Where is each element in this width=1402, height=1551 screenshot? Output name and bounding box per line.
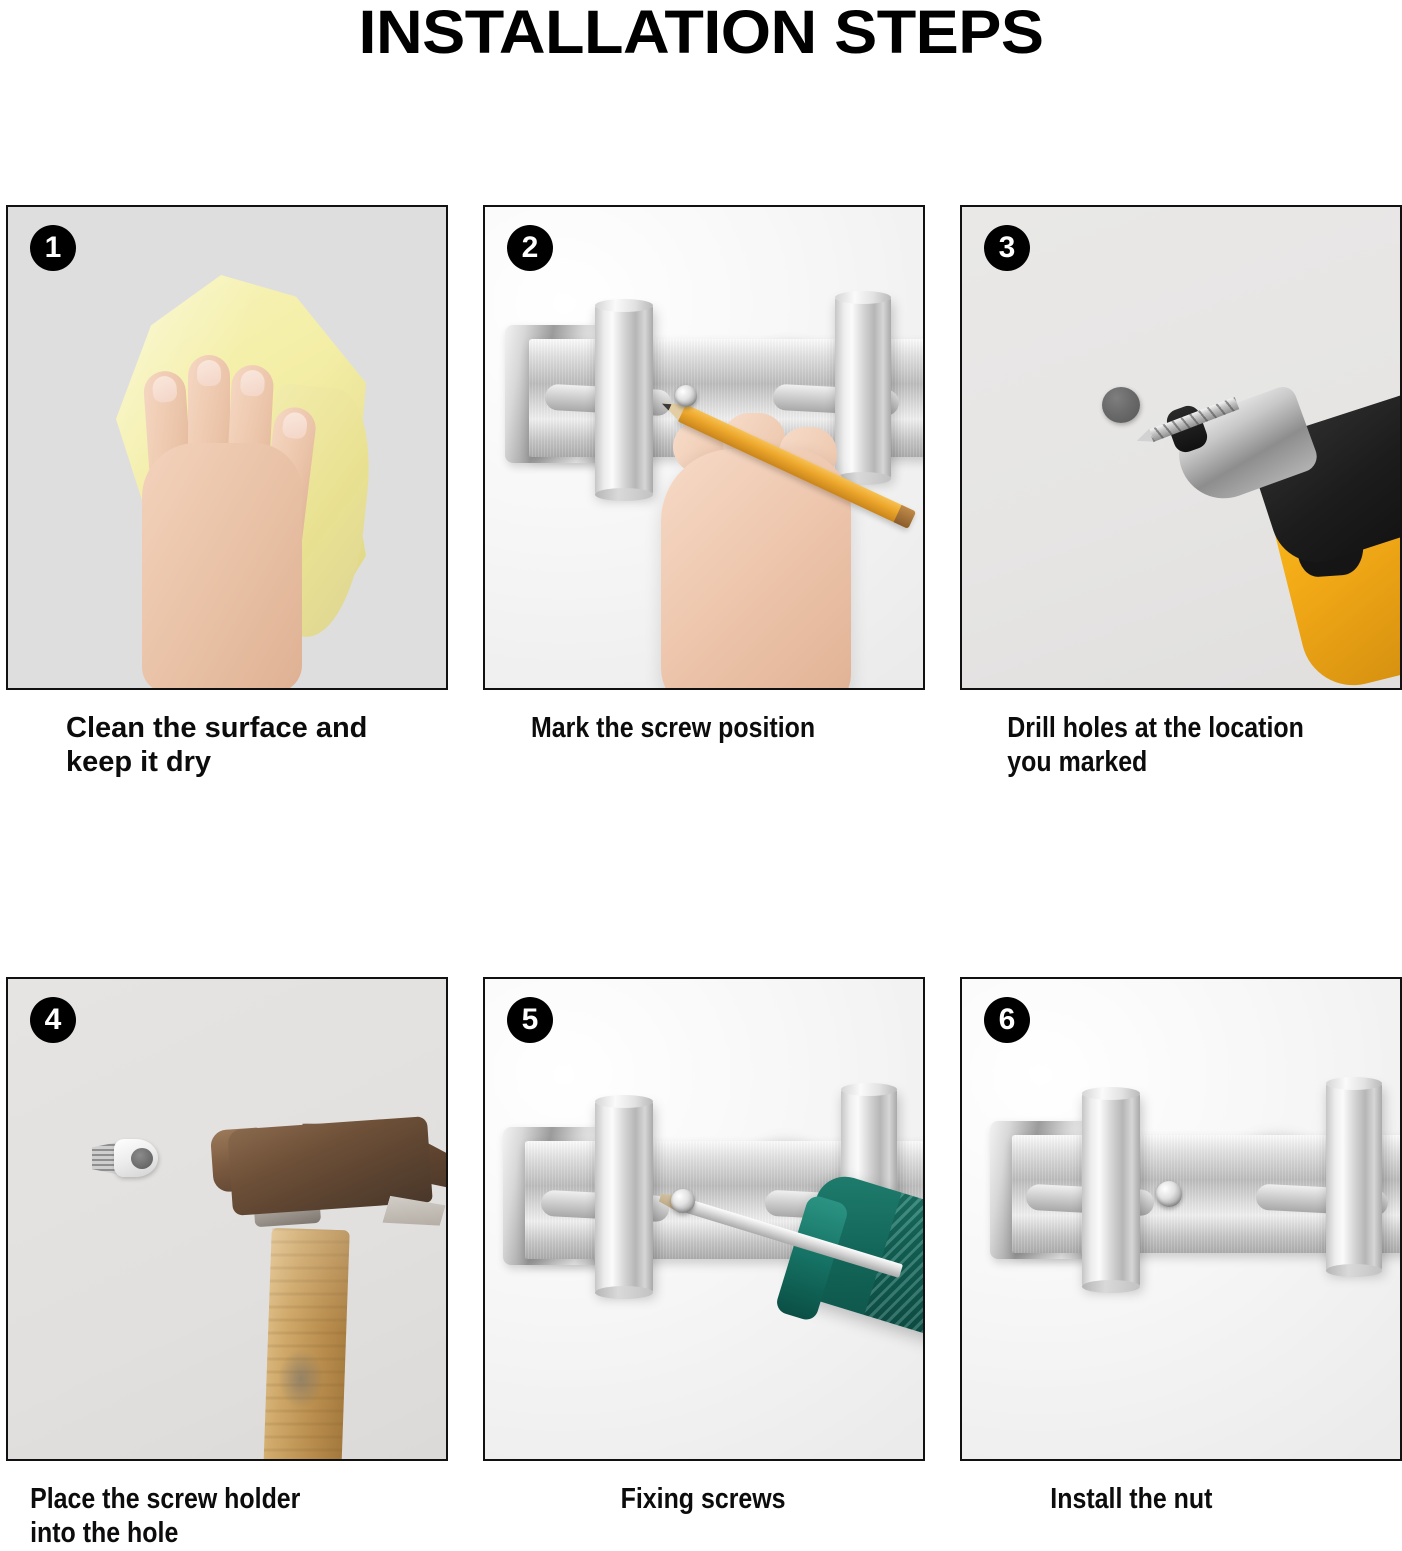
step-6-photo: 6 (960, 977, 1402, 1461)
step-4-caption: Place the screw holder into the hole (6, 1483, 386, 1550)
drilled-hole-icon (1102, 387, 1140, 423)
hammer-handle-icon (260, 1228, 349, 1461)
step-6-caption: Install the nut (960, 1483, 1340, 1517)
step-4-number-badge: 4 (30, 997, 76, 1043)
drill-bit-point-icon (1134, 429, 1154, 448)
handle-smudge-icon (278, 1349, 324, 1409)
steps-row-2: 4 Place the screw holder into the hole 5 (6, 977, 1398, 1550)
step-1-caption: Clean the surface and keep it dry (6, 712, 448, 779)
step-2-caption: Mark the screw position (483, 712, 863, 746)
step-3-number-badge: 3 (984, 225, 1030, 271)
screw-hole-mark-icon (675, 385, 697, 407)
hook-peg-icon (595, 1101, 653, 1293)
step-2-photo: 2 (483, 205, 925, 690)
steps-row-1: 1 (6, 205, 1398, 779)
step-5-caption: Fixing screws (483, 1483, 863, 1517)
step-2-number-badge: 2 (507, 225, 553, 271)
step-card-5: 5 Fixing scr (483, 977, 925, 1550)
step-card-1: 1 (6, 205, 448, 779)
hook-peg-icon (595, 305, 653, 495)
fingernail-icon (240, 369, 265, 396)
installation-steps-grid: 1 (6, 205, 1398, 1551)
step-1-photo: 1 (6, 205, 448, 690)
step-5-number-badge: 5 (507, 997, 553, 1043)
step-3-photo: 3 (960, 205, 1402, 690)
wall-anchor-icon (92, 1137, 158, 1179)
step-3-caption: Drill holes at the location you marked (960, 712, 1340, 779)
step-card-3: 3 Drill holes at the location you marked (960, 205, 1402, 779)
step-card-4: 4 Place the screw holder into the hole (6, 977, 448, 1550)
step-card-2: 2 (483, 205, 925, 779)
step-5-photo: 5 (483, 977, 925, 1461)
step-card-6: 6 Install the nut (960, 977, 1402, 1550)
hook-peg-icon (1082, 1093, 1140, 1287)
hook-peg-icon (835, 297, 891, 479)
fingernail-icon (152, 375, 178, 403)
anchor-body-icon (114, 1139, 158, 1177)
hand-icon (134, 335, 334, 685)
pencil-end-icon (894, 505, 917, 529)
page-title: INSTALLATION STEPS (0, 2, 1402, 63)
step-4-photo: 4 (6, 977, 448, 1461)
fingernail-icon (281, 411, 308, 440)
step-1-number-badge: 1 (30, 225, 76, 271)
fingernail-icon (197, 360, 221, 386)
step-6-number-badge: 6 (984, 997, 1030, 1043)
palm-icon (142, 443, 302, 690)
hook-rail-assembly-icon (990, 1083, 1402, 1313)
hook-peg-icon (1326, 1083, 1382, 1271)
